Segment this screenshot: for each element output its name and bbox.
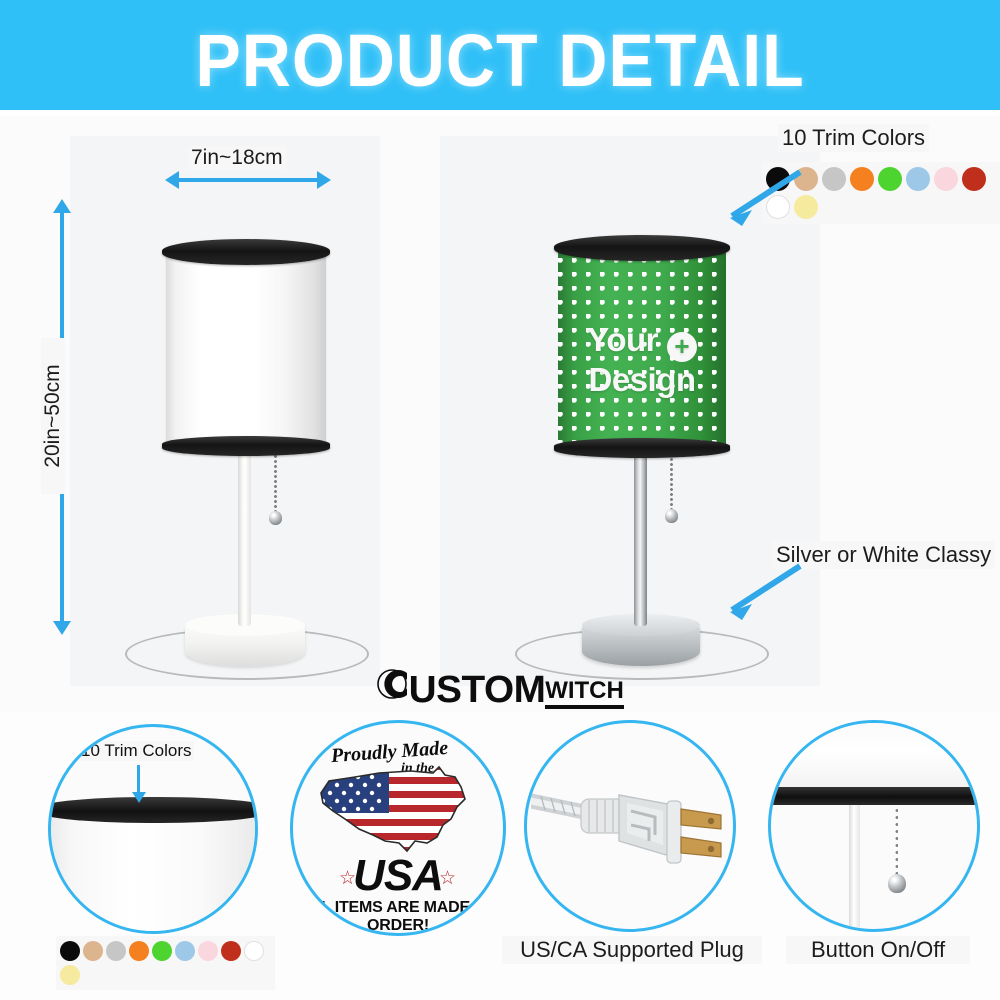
trim-swatch-dark-red[interactable] (962, 167, 986, 191)
width-dimension-label: 7in~18cm (188, 146, 286, 170)
trim-swatch-light-blue[interactable] (175, 941, 195, 961)
feature-caption-button: Button On/Off (786, 936, 970, 964)
lampshade-trim-closeup (768, 787, 980, 805)
trim-swatch-pink[interactable] (198, 941, 218, 961)
trim-swatch-dark-red[interactable] (221, 941, 241, 961)
lampshade-bottom-closeup (768, 720, 980, 795)
feature-circle: 10 Trim Colors (48, 724, 258, 934)
feature-circle (524, 720, 736, 932)
arrow-head-right-icon (317, 171, 331, 189)
lampshade-trim-closeup (48, 797, 258, 823)
arrow-head-up-icon (53, 199, 71, 213)
brand-name-sub: WITCH (545, 678, 624, 709)
arrow-head-left-icon (165, 171, 179, 189)
design-text-line1: Your (587, 321, 658, 358)
us-plug-icon (531, 771, 731, 896)
feature-trim-colors: 10 Trim Colors (48, 724, 258, 994)
lampshade-trim-top (554, 235, 730, 261)
feature-made-in-usa: Proudly Made in the (290, 720, 506, 936)
chain-beads (670, 452, 673, 512)
feature-circle: Proudly Made in the (290, 720, 506, 936)
trim-swatch-tan[interactable] (83, 941, 103, 961)
page-title: PRODUCT DETAIL (40, 18, 960, 103)
lamp-pole-closeup (849, 805, 860, 932)
trim-swatch-green[interactable] (152, 941, 172, 961)
trim-colors-down-arrow (137, 765, 140, 793)
width-dimension-arrow (178, 178, 318, 182)
product-stage: 20in~50cm 7in~18cm (0, 116, 1000, 716)
trim-colors-inner-label: 10 Trim Colors (79, 741, 194, 761)
trim-colors-callout-label: 10 Trim Colors (778, 124, 929, 152)
brand-logo: USTOM WITCH (0, 664, 1000, 709)
design-text-line2: Design (588, 361, 695, 398)
trim-colors-swatches-bottom[interactable] (56, 936, 275, 990)
trim-swatch-black[interactable] (60, 941, 80, 961)
height-dimension-label: 20in~50cm (41, 338, 65, 494)
trim-swatch-gray[interactable] (822, 167, 846, 191)
lampshade-surface (166, 248, 326, 448)
arrow-head-down-icon (53, 621, 71, 635)
trim-swatch-pink[interactable] (934, 167, 958, 191)
feature-button-onoff: Button On/Off (768, 720, 984, 980)
chain-knob[interactable] (888, 874, 906, 893)
made-in-usa-badge: Proudly Made in the (293, 723, 503, 933)
feature-circle (768, 720, 980, 932)
chain-beads (895, 807, 898, 879)
chain-beads (274, 454, 277, 514)
chain-knob[interactable] (269, 511, 282, 525)
arrow-head-down-icon (132, 792, 146, 803)
feature-caption-plug: US/CA Supported Plug (502, 936, 762, 964)
badge-star-left-icon: ☆ (339, 867, 356, 890)
lampshade-trim-top (162, 239, 330, 265)
lamp-white (130, 196, 360, 686)
lamp-pole-silver (634, 452, 647, 626)
lampshade-white (166, 248, 326, 448)
trim-swatch-orange[interactable] (850, 167, 874, 191)
lamp-pole-white (238, 454, 251, 626)
trim-swatch-pale-yellow[interactable] (60, 965, 80, 985)
lampshade-green[interactable]: Your + Design (558, 244, 726, 450)
badge-subtitle: ALL ITEMS ARE MADE TO ORDER! (293, 899, 503, 935)
add-design-plus-icon[interactable]: + (667, 332, 697, 362)
brand-name-main: USTOM (409, 671, 546, 709)
badge-usa-word: USA (293, 851, 503, 901)
trim-swatch-light-blue[interactable] (906, 167, 930, 191)
trim-swatch-green[interactable] (878, 167, 902, 191)
feature-plug: US/CA Supported Plug (524, 720, 740, 980)
your-design-placeholder: Your + Design (558, 322, 726, 397)
brand-c-monogram-icon (376, 664, 412, 709)
lampshade-closeup (48, 809, 258, 934)
lampshade-trim-bottom (554, 438, 730, 458)
trim-swatch-gray[interactable] (106, 941, 126, 961)
feature-row: 10 Trim Colors Pro (0, 712, 1000, 1000)
trim-swatch-orange[interactable] (129, 941, 149, 961)
badge-star-right-icon: ☆ (439, 867, 456, 890)
product-detail-page: PRODUCT DETAIL 20in~50cm 7in~18cm (0, 0, 1000, 1000)
chain-knob[interactable] (665, 509, 678, 523)
lampshade-trim-bottom (162, 436, 330, 456)
trim-swatch-white[interactable] (244, 941, 264, 961)
